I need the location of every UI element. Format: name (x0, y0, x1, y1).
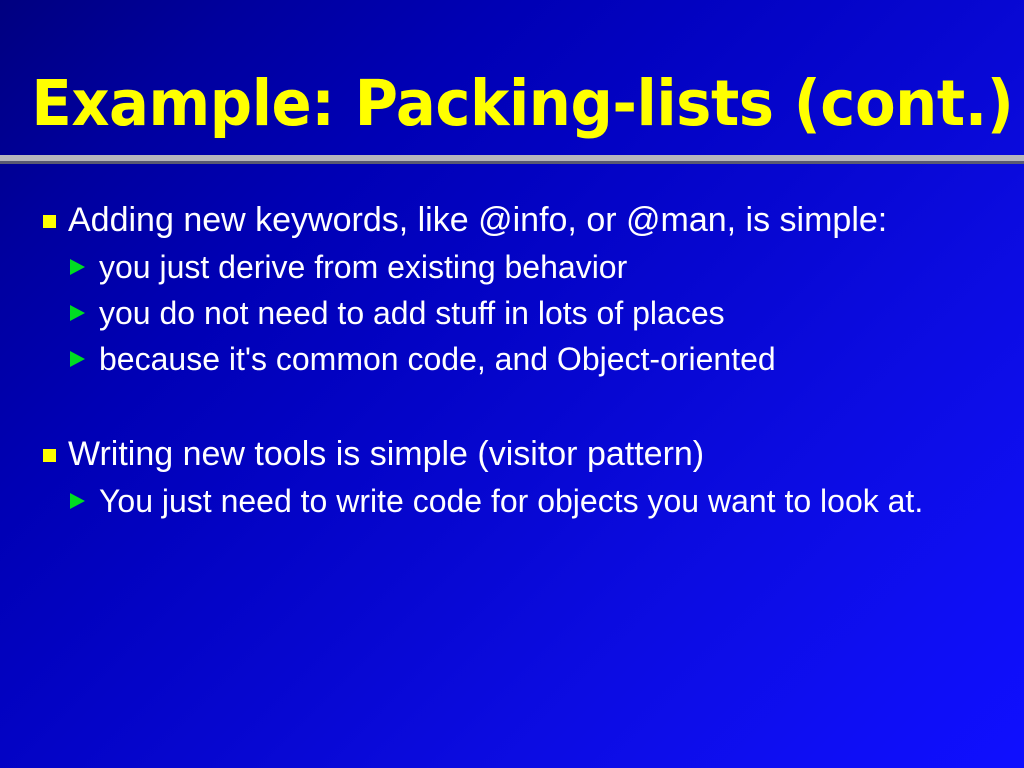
bullet-label: you just derive from existing behavior (99, 249, 627, 285)
page-title: Example: Packing-lists (cont.) (31, 68, 1013, 140)
blank-line-spacer (0, 382, 1024, 430)
green-triangle-bullet-icon (70, 259, 85, 275)
slide-title-block: Example: Packing-lists (cont.) (0, 68, 1024, 140)
slide-body: Adding new keywords, like @info, or @man… (0, 196, 1024, 524)
bullet-label: you do not need to add stuff in lots of … (99, 295, 725, 331)
bullet-item-level2: you do not need to add stuff in lots of … (0, 290, 1024, 336)
yellow-square-bullet-icon (43, 215, 56, 228)
bullet-label: because it's common code, and Object-ori… (99, 341, 776, 377)
green-triangle-bullet-icon (70, 351, 85, 367)
bullet-item-level1: Adding new keywords, like @info, or @man… (0, 196, 1024, 244)
bullet-item-level2: because it's common code, and Object-ori… (0, 336, 1024, 382)
bullet-item-level1: Writing new tools is simple (visitor pat… (0, 430, 1024, 478)
yellow-square-bullet-icon (43, 449, 56, 462)
bullet-label: Writing new tools is simple (visitor pat… (68, 435, 704, 473)
green-triangle-bullet-icon (70, 305, 85, 321)
green-triangle-bullet-icon (70, 493, 85, 509)
bullet-item-level2: you just derive from existing behavior (0, 244, 1024, 290)
bullet-label: Adding new keywords, like @info, or @man… (68, 201, 887, 239)
presentation-slide: Example: Packing-lists (cont.) Adding ne… (0, 0, 1024, 768)
bullet-item-level2-overflow: You just need to write code for objects … (0, 478, 1024, 524)
divider-shadow-line (0, 161, 1024, 164)
title-divider (0, 155, 1024, 164)
bullet-label: You just need to write code for objects … (0, 478, 1024, 524)
